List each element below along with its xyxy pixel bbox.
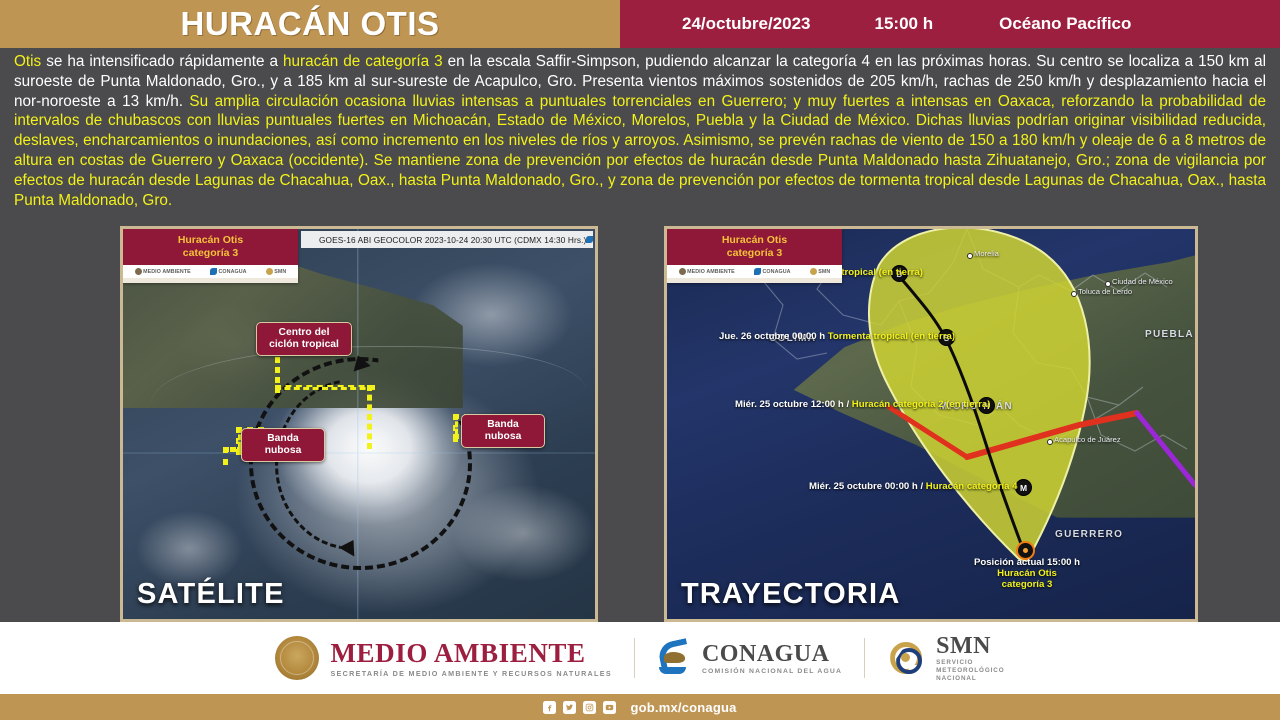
header-date: 24/octubre/2023 bbox=[682, 14, 811, 34]
conagua-logo: CONAGUA bbox=[210, 268, 247, 275]
smn-footer-title: SMN bbox=[936, 633, 1004, 659]
state-label-puebla: PUEBLA bbox=[1145, 329, 1194, 340]
trajectory-panel-title: TRAYECTORIA bbox=[681, 578, 900, 611]
smn-logo-2: SMN bbox=[810, 268, 831, 275]
current-position-storm: Huracán Otis bbox=[957, 568, 1097, 579]
gob-mx-url[interactable]: gob.mx/conagua bbox=[630, 700, 736, 715]
smn-label-2: SMN bbox=[818, 269, 830, 275]
conagua-mini-logo: CONAGUA bbox=[586, 235, 598, 244]
conagua-label-2: CONAGUA bbox=[763, 269, 791, 275]
water-wave-icon bbox=[657, 640, 691, 676]
city-label-cdmx: Ciudad de México bbox=[1112, 277, 1173, 286]
state-label-guerrero: GUERRERO bbox=[1055, 529, 1123, 540]
conagua-mini-label: CONAGUA bbox=[595, 235, 598, 244]
forecast-time-3: Miér. 25 octubre 00:00 h / bbox=[809, 481, 923, 492]
smn-footer-text: SMN SERVICIO METEOROLÓGICO NACIONAL bbox=[936, 633, 1004, 683]
medio-ambiente-logo: MEDIO AMBIENTE bbox=[135, 268, 191, 275]
header-time: 15:00 h bbox=[875, 14, 934, 34]
city-dot-acapulco bbox=[1047, 439, 1053, 445]
brand-box-footer bbox=[123, 278, 298, 283]
current-position-category: categoría 3 bbox=[957, 579, 1097, 590]
callout-band-right: Banda nubosa bbox=[461, 414, 545, 448]
brand-box-storm-2: Huracán Otis bbox=[671, 234, 838, 247]
goes-caption-bar: GOES-16 ABI GEOCOLOR 2023-10-24 20:30 UT… bbox=[301, 231, 593, 248]
smn-footer-sub1: SERVICIO bbox=[936, 659, 1004, 667]
forecast-category-1: Tormenta tropical (en tierra) bbox=[828, 331, 955, 342]
trajectory-brand-box: Huracán Otis categoría 3 MEDIO AMBIENTE … bbox=[667, 229, 842, 283]
brand-box-footer-2 bbox=[667, 278, 842, 283]
medio-ambiente-footer-title: MEDIO AMBIENTE bbox=[330, 639, 611, 668]
youtube-icon[interactable] bbox=[603, 701, 616, 714]
city-dot-morelia bbox=[967, 253, 973, 259]
trajectory-panel: Huracán Otis categoría 3 MEDIO AMBIENTE … bbox=[664, 226, 1198, 622]
conagua-footer-text: CONAGUA COMISIÓN NACIONAL DEL AGUA bbox=[702, 641, 842, 675]
footer-logo-bar: MEDIO AMBIENTE SECRETARÍA DE MEDIO AMBIE… bbox=[0, 622, 1280, 694]
brand-box-category: categoría 3 bbox=[127, 247, 294, 260]
header-basin: Océano Pacífico bbox=[999, 14, 1131, 34]
medio-ambiente-footer-text: MEDIO AMBIENTE SECRETARÍA DE MEDIO AMBIE… bbox=[330, 639, 611, 678]
header-meta-block: 24/octubre/2023 15:00 h Océano Pacífico bbox=[620, 0, 1280, 48]
instagram-icon[interactable] bbox=[583, 701, 596, 714]
smn-footer-sub3: NACIONAL bbox=[936, 675, 1004, 683]
smn-footer-sub2: METEOROLÓGICO bbox=[936, 667, 1004, 675]
medio-ambiente-footer-logo: MEDIO AMBIENTE SECRETARÍA DE MEDIO AMBIE… bbox=[275, 636, 611, 680]
forecast-label-3: Miér. 25 octubre 00:00 h / Huracán categ… bbox=[809, 481, 1018, 492]
callout-cyclone-center: Centro del ciclón tropical bbox=[256, 322, 352, 356]
city-label-toluca: Toluca de Lerdo bbox=[1078, 287, 1132, 296]
current-position-label: Posición actual 15:00 h Huracán Otis cat… bbox=[957, 557, 1097, 590]
forecast-category-3: Huracán categoría 4 bbox=[926, 481, 1018, 492]
forecast-time-2: Miér. 25 octubre 12:00 h / bbox=[735, 399, 849, 410]
bulletin-sentence-1a: se ha intensificado rápidamente a bbox=[41, 53, 283, 70]
conagua-footer-title: CONAGUA bbox=[702, 641, 842, 667]
city-label-morelia: Morelia bbox=[974, 249, 999, 258]
page-header: HURACÁN OTIS 24/octubre/2023 15:00 h Océ… bbox=[0, 0, 1280, 48]
brand-box-heading: Huracán Otis categoría 3 bbox=[123, 229, 298, 265]
smn-logo: SMN bbox=[266, 268, 287, 275]
leader-center-down bbox=[367, 385, 372, 449]
page-title: HURACÁN OTIS bbox=[181, 5, 440, 43]
brand-box-storm: Huracán Otis bbox=[127, 234, 294, 247]
medio-ambiente-label-2: MEDIO AMBIENTE bbox=[687, 269, 735, 275]
satellite-panel-title: SATÉLITE bbox=[137, 578, 285, 611]
brand-box-logos: MEDIO AMBIENTE CONAGUA SMN bbox=[123, 265, 298, 278]
national-seal-icon bbox=[275, 636, 319, 680]
smn-footer-logo: SMN SERVICIO METEOROLÓGICO NACIONAL bbox=[887, 633, 1004, 683]
header-title-block: HURACÁN OTIS bbox=[0, 0, 620, 48]
social-media-bar: gob.mx/conagua bbox=[0, 694, 1280, 720]
bulletin-text: Otis se ha intensificado rápidamente a h… bbox=[14, 52, 1266, 210]
conagua-logo-2: CONAGUA bbox=[754, 268, 791, 275]
bulletin-category-highlight: huracán de categoría 3 bbox=[283, 53, 443, 70]
brand-box-logos-2: MEDIO AMBIENTE CONAGUA SMN bbox=[667, 265, 842, 278]
bulletin-page: HURACÁN OTIS 24/octubre/2023 15:00 h Océ… bbox=[0, 0, 1280, 720]
forecast-time-1: Jue. 26 octubre 00:00 h bbox=[719, 331, 825, 342]
conagua-label: CONAGUA bbox=[219, 269, 247, 275]
city-dot-toluca bbox=[1071, 291, 1077, 297]
facebook-icon[interactable] bbox=[543, 701, 556, 714]
medio-ambiente-footer-sub: SECRETARÍA DE MEDIO AMBIENTE Y RECURSOS … bbox=[330, 669, 611, 678]
current-position-time: Posición actual 15:00 h bbox=[957, 557, 1097, 568]
conagua-footer-logo: CONAGUA COMISIÓN NACIONAL DEL AGUA bbox=[657, 640, 842, 676]
forecast-label-1: Jue. 26 octubre 00:00 h Tormenta tropica… bbox=[719, 331, 955, 342]
conagua-footer-sub: COMISIÓN NACIONAL DEL AGUA bbox=[702, 668, 842, 675]
forecast-category-2: Huracán categoría 2 (en tierra) bbox=[852, 399, 991, 410]
footer-divider-2 bbox=[864, 638, 865, 678]
footer-divider-1 bbox=[634, 638, 635, 678]
satellite-brand-box: Huracán Otis categoría 3 MEDIO AMBIENTE … bbox=[123, 229, 298, 283]
goes-caption-logos: CONAGUA SMN bbox=[586, 235, 598, 244]
brand-box-heading-2: Huracán Otis categoría 3 bbox=[667, 229, 842, 265]
medio-ambiente-label: MEDIO AMBIENTE bbox=[143, 269, 191, 275]
goes-caption-text: GOES-16 ABI GEOCOLOR 2023-10-24 20:30 UT… bbox=[319, 235, 586, 245]
medio-ambiente-logo-2: MEDIO AMBIENTE bbox=[679, 268, 735, 275]
smn-spiral-icon bbox=[887, 639, 925, 677]
brand-box-category-2: categoría 3 bbox=[671, 247, 838, 260]
leader-center-horizontal bbox=[275, 385, 375, 390]
leader-band-left-down bbox=[223, 447, 228, 465]
bulletin-impacts-highlight: Su amplia circulación ocasiona lluvias i… bbox=[14, 93, 1266, 209]
forecast-label-2: Miér. 25 octubre 12:00 h / Huracán categ… bbox=[735, 399, 990, 410]
satellite-panel: GOES-16 ABI GEOCOLOR 2023-10-24 20:30 UT… bbox=[120, 226, 598, 622]
callout-band-left: Banda nubosa bbox=[241, 428, 325, 462]
city-label-acapulco: Acapulco de Juárez bbox=[1054, 435, 1121, 444]
twitter-icon[interactable] bbox=[563, 701, 576, 714]
bulletin-storm-name: Otis bbox=[14, 53, 41, 70]
smn-label: SMN bbox=[274, 269, 286, 275]
